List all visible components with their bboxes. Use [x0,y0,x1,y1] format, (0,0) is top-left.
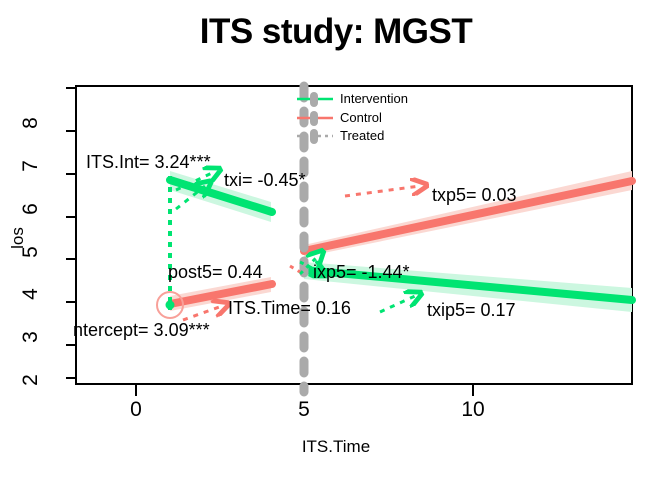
annotation-intercept: ntercept= 3.09*** [73,320,210,341]
x-axis-title: ITS.Time [0,437,672,457]
annotation-ixp5: ixp5= -1.44* [313,262,410,283]
legend-point-treated [310,129,318,144]
x-tick-label: 0 [121,398,151,422]
legend-label-intervention: Intervention [340,91,408,106]
legend-label-control: Control [340,110,382,125]
arrow-post5 [290,266,300,272]
legend-point-control [310,111,318,126]
y-tick-label: 3 [19,322,43,352]
x-tick-label: 5 [289,398,319,422]
annotation-txip5: txip5= 0.17 [427,300,516,321]
start-marker-dot [166,301,175,310]
y-tick-label: 6 [19,194,43,224]
annotation-post5: post5= 0.44 [168,262,263,283]
arrow-txip5 [380,296,415,312]
arrow-its-time [183,306,222,320]
y-tick-label: 7 [19,151,43,181]
chart-canvas: ITS study: MGST [0,0,672,480]
annotation-its-time: ITS.Time= 0.16 [228,298,351,319]
annotation-its-int: ITS.Int= 3.24*** [86,152,211,173]
annotation-txp5: txp5= 0.03 [432,185,517,206]
annotation-txi: txi= -0.45* [224,170,306,191]
y-tick-label: 4 [19,279,43,309]
y-tick-label: 2 [19,365,43,395]
x-tick-label: 10 [455,398,491,422]
arrow-txp5 [345,186,420,196]
y-tick-label: 8 [19,108,43,138]
y-tick-label: 5 [19,237,43,267]
its-plot-svg [0,0,672,480]
legend-label-treated: Treated [340,128,384,143]
legend-point-intervention [310,92,318,107]
